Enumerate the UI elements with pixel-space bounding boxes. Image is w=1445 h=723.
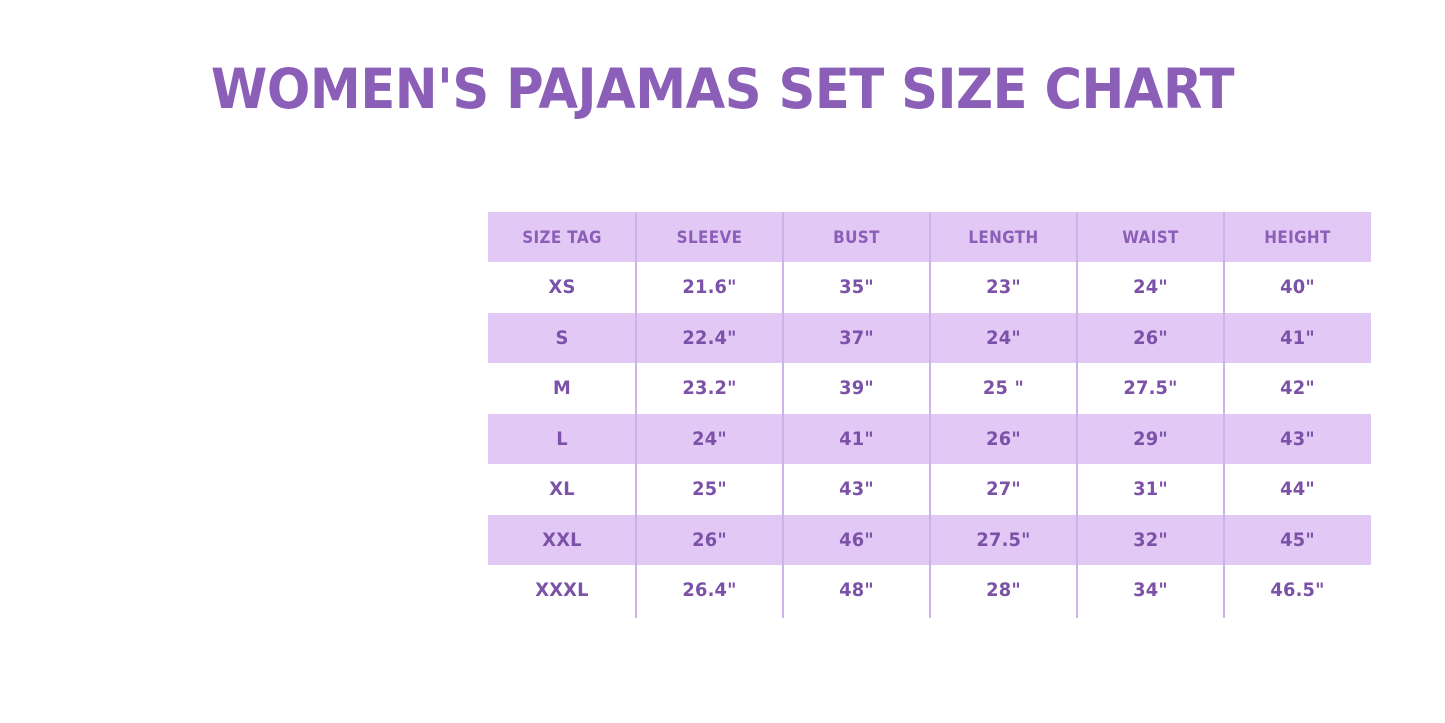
column-header-height: HEIGHT bbox=[1230, 212, 1365, 262]
cell-waist: 34" bbox=[1081, 565, 1219, 616]
cell-sleeve: 22.4" bbox=[640, 313, 778, 364]
cell-bust: 46" bbox=[787, 515, 925, 566]
column-header-bust: BUST bbox=[789, 212, 924, 262]
column-header-sleeve: SLEEVE bbox=[642, 212, 777, 262]
cell-size-tag: XS bbox=[492, 262, 631, 313]
cell-height: 42" bbox=[1228, 363, 1366, 414]
cell-bust: 37" bbox=[787, 313, 925, 364]
table-row: XL 25" 43" 27" 31" 44" bbox=[488, 464, 1371, 515]
column-header-length: LENGTH bbox=[936, 212, 1071, 262]
cell-size-tag: L bbox=[492, 414, 631, 465]
cell-length: 24" bbox=[934, 313, 1072, 364]
cell-height: 41" bbox=[1228, 313, 1366, 364]
cell-length: 27" bbox=[934, 464, 1072, 515]
column-header-size-tag: SIZE TAG bbox=[494, 212, 630, 262]
table-body: XS 21.6" 35" 23" 24" 40" S 22.4" 37" 24"… bbox=[488, 262, 1371, 616]
cell-waist: 31" bbox=[1081, 464, 1219, 515]
cell-sleeve: 21.6" bbox=[640, 262, 778, 313]
size-chart-table-container: SIZE TAG SLEEVE BUST LENGTH WAIST HEIGHT… bbox=[488, 212, 1371, 616]
cell-bust: 39" bbox=[787, 363, 925, 414]
page-title: WOMEN'S PAJAMAS SET SIZE CHART bbox=[51, 57, 1395, 121]
table-row: L 24" 41" 26" 29" 43" bbox=[488, 414, 1371, 465]
cell-height: 40" bbox=[1228, 262, 1366, 313]
cell-sleeve: 26.4" bbox=[640, 565, 778, 616]
cell-sleeve: 23.2" bbox=[640, 363, 778, 414]
cell-bust: 43" bbox=[787, 464, 925, 515]
cell-size-tag: M bbox=[492, 363, 631, 414]
cell-waist: 26" bbox=[1081, 313, 1219, 364]
cell-size-tag: XXL bbox=[492, 515, 631, 566]
table-header-row: SIZE TAG SLEEVE BUST LENGTH WAIST HEIGHT bbox=[488, 212, 1371, 262]
cell-height: 44" bbox=[1228, 464, 1366, 515]
table-row: XS 21.6" 35" 23" 24" 40" bbox=[488, 262, 1371, 313]
table-row: XXL 26" 46" 27.5" 32" 45" bbox=[488, 515, 1371, 566]
cell-length: 27.5" bbox=[934, 515, 1072, 566]
cell-waist: 27.5" bbox=[1081, 363, 1219, 414]
cell-length: 25 " bbox=[934, 363, 1072, 414]
cell-size-tag: S bbox=[492, 313, 631, 364]
table-row: S 22.4" 37" 24" 26" 41" bbox=[488, 313, 1371, 364]
cell-height: 45" bbox=[1228, 515, 1366, 566]
cell-sleeve: 26" bbox=[640, 515, 778, 566]
cell-length: 28" bbox=[934, 565, 1072, 616]
cell-waist: 24" bbox=[1081, 262, 1219, 313]
cell-waist: 29" bbox=[1081, 414, 1219, 465]
size-chart-table: SIZE TAG SLEEVE BUST LENGTH WAIST HEIGHT… bbox=[488, 212, 1371, 616]
cell-sleeve: 25" bbox=[640, 464, 778, 515]
size-chart-page: WOMEN'S PAJAMAS SET SIZE CHART SIZE TAG … bbox=[0, 0, 1445, 723]
cell-size-tag: XL bbox=[492, 464, 631, 515]
table-row: M 23.2" 39" 25 " 27.5" 42" bbox=[488, 363, 1371, 414]
cell-length: 26" bbox=[934, 414, 1072, 465]
cell-waist: 32" bbox=[1081, 515, 1219, 566]
table-row: XXXL 26.4" 48" 28" 34" 46.5" bbox=[488, 565, 1371, 616]
cell-height: 43" bbox=[1228, 414, 1366, 465]
cell-bust: 41" bbox=[787, 414, 925, 465]
cell-height: 46.5" bbox=[1228, 565, 1366, 616]
cell-size-tag: XXXL bbox=[492, 565, 631, 616]
cell-sleeve: 24" bbox=[640, 414, 778, 465]
cell-length: 23" bbox=[934, 262, 1072, 313]
cell-bust: 35" bbox=[787, 262, 925, 313]
cell-bust: 48" bbox=[787, 565, 925, 616]
table-header: SIZE TAG SLEEVE BUST LENGTH WAIST HEIGHT bbox=[488, 212, 1371, 262]
column-header-waist: WAIST bbox=[1083, 212, 1218, 262]
